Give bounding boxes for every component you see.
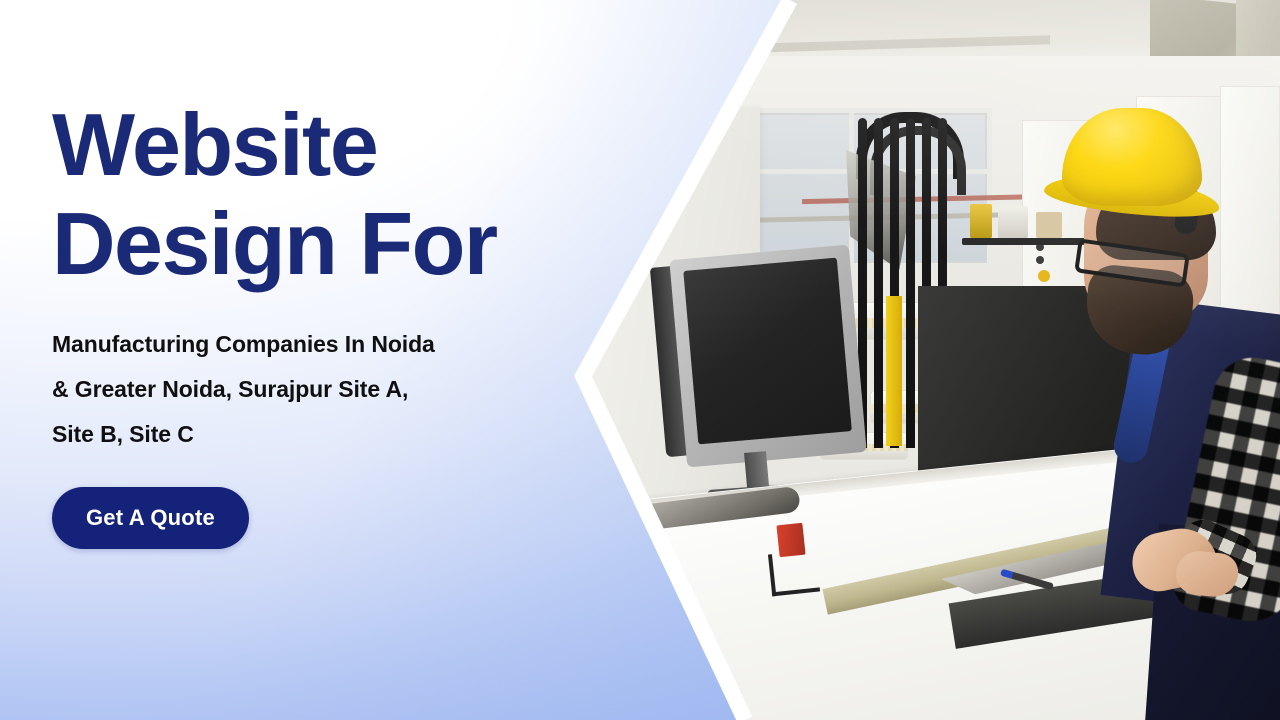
hero-content: Website Design For Manufacturing Compani…: [52, 0, 612, 720]
hero-banner: Website Design For Manufacturing Compani…: [0, 0, 1280, 720]
hero-subheadline: Manufacturing Companies In Noida & Great…: [52, 322, 572, 457]
get-a-quote-button[interactable]: Get A Quote: [52, 487, 249, 549]
page-title: Website Design For: [52, 96, 497, 293]
cup-stand: [768, 550, 820, 597]
worker-figure: [1000, 60, 1280, 720]
yellow-safety-stripe-vertical: [886, 296, 902, 446]
hard-hat-icon: [1062, 108, 1202, 206]
monitor-display-icon: [669, 245, 866, 468]
